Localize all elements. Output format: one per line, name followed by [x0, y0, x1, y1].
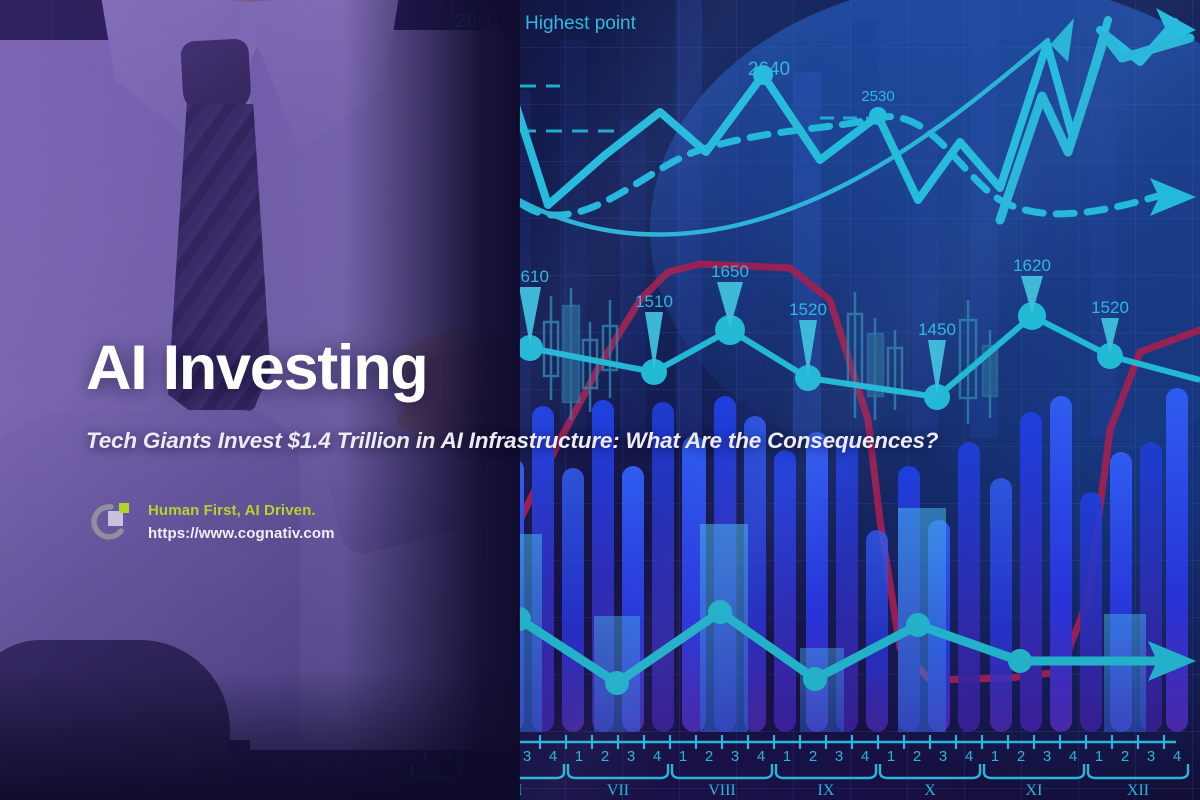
page-title: AI Investing	[86, 336, 1146, 400]
cognativ-logo-icon	[86, 498, 136, 546]
brand-url[interactable]: https://www.cognativ.com	[148, 525, 335, 542]
banner-stage: 2800 Highest point 2640 2530	[0, 0, 1200, 800]
page-subtitle: Tech Giants Invest $1.4 Trillion in AI I…	[86, 428, 1146, 454]
headline-block: AI Investing Tech Giants Invest $1.4 Tri…	[86, 336, 1146, 454]
brand-tagline: Human First, AI Driven.	[148, 502, 335, 519]
brand-row: Human First, AI Driven. https://www.cogn…	[86, 498, 335, 546]
